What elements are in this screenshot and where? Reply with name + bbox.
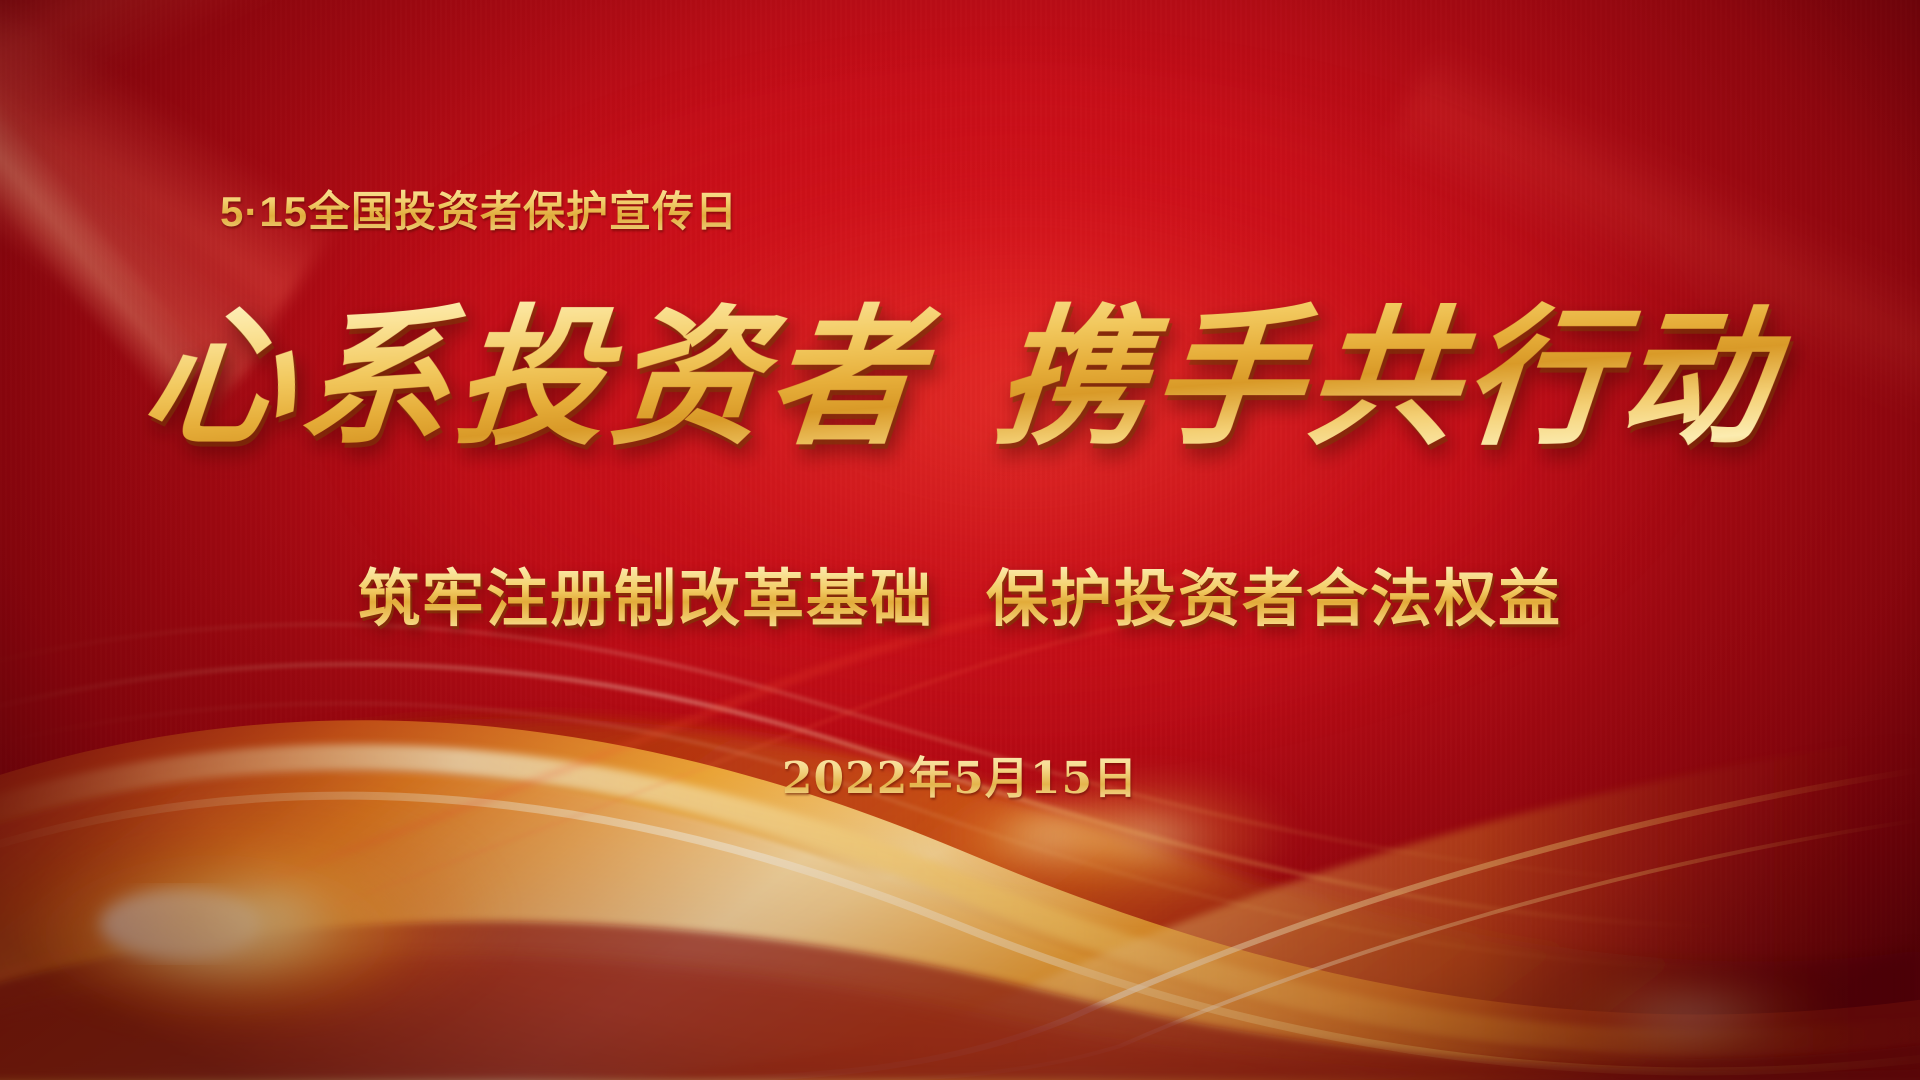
event-date-text: 2022年5月15日 [0,742,1920,806]
poster-content: 5·15全国投资者保护宣传日 心系投资者携手共行动 筑牢注册制改革基础保护投资者… [0,0,1920,1080]
hero-slogan-part-2: 携手共行动 [988,290,1783,466]
poster-canvas: 5·15全国投资者保护宣传日 心系投资者携手共行动 筑牢注册制改革基础保护投资者… [0,0,1920,1080]
subtitle-part-2: 保护投资者合法权益 [986,565,1562,634]
subtitle-slogan: 筑牢注册制改革基础保护投资者合法权益 [0,548,1920,638]
subtitle-part-1: 筑牢注册制改革基础 [358,565,934,634]
hero-slogan-part-1: 心系投资者 [136,290,931,466]
campaign-eyebrow-text: 5·15全国投资者保护宣传日 [220,178,738,239]
hero-slogan: 心系投资者携手共行动 [0,300,1920,458]
